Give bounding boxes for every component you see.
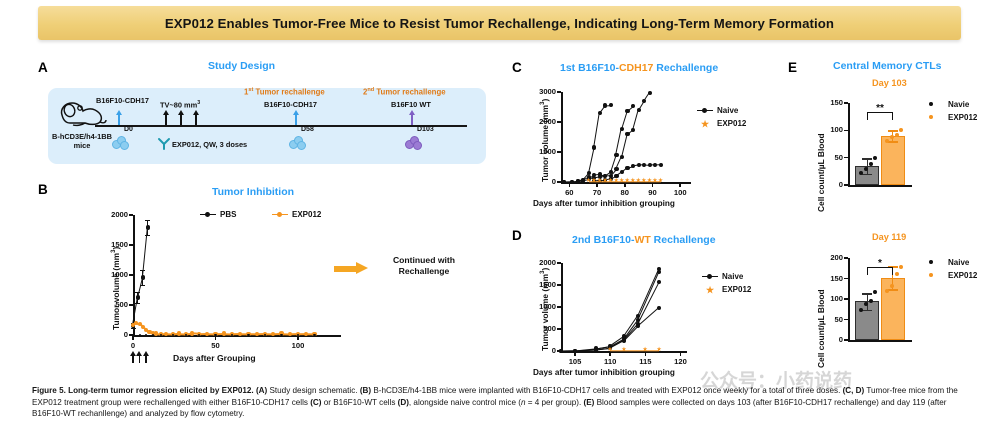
caption-seg-4: B-hCD3E/h4-1BB mice were implanted with … — [371, 386, 842, 395]
caption-seg-9: (D) — [398, 398, 409, 407]
caption-seg-1: Figure 5. Long-term tumor regression eli… — [32, 386, 267, 395]
legend-label-navie-e1: Navie — [948, 100, 969, 109]
caption-seg-5: (C, D) — [843, 386, 865, 395]
caption-seg-3: (B) — [360, 386, 371, 395]
caption-seg-10: , alongside naive control mice ( — [409, 398, 521, 407]
legend-label-exp012-e1: EXP012 — [948, 113, 977, 122]
y-tick — [844, 257, 848, 259]
error-cap — [862, 310, 872, 311]
y-tick-label: 0 — [810, 335, 843, 344]
scatter-point — [873, 290, 877, 294]
figure-root: EXP012 Enables Tumor-Free Mice to Resist… — [0, 0, 999, 429]
y-tick-label: 200 — [810, 253, 843, 262]
legend-item-exp012-e2: EXP012 — [928, 271, 977, 280]
scatter-point — [869, 299, 873, 303]
figure-caption: Figure 5. Long-term tumor regression eli… — [32, 385, 970, 420]
y-axis-title: Cell count/µL Blood — [816, 289, 826, 368]
significance-label: * — [874, 258, 886, 269]
legend-marker-navie-e1-icon — [928, 101, 944, 109]
y-tick — [844, 319, 848, 321]
x-axis — [848, 340, 912, 342]
scatter-point — [895, 272, 899, 276]
error-cap — [888, 289, 898, 290]
y-axis — [848, 258, 850, 340]
y-tick-label: 150 — [810, 274, 843, 283]
scatter-point — [885, 289, 889, 293]
legend-marker-exp012-e2-icon — [928, 272, 944, 280]
y-tick-label: 100 — [810, 294, 843, 303]
y-tick — [844, 339, 848, 341]
panel-e-day119-plot: 050100150200Cell count/µL Blood* — [0, 0, 999, 429]
caption-seg-8: or B16F10-WT cells — [321, 398, 397, 407]
legend-marker-naive-e2-icon — [928, 259, 944, 267]
scatter-point — [899, 265, 903, 269]
panel-e-day103-legend: Navie EXP012 — [928, 100, 977, 126]
caption-seg-2: Study design schematic. — [267, 386, 360, 395]
caption-seg-7: (C) — [310, 398, 321, 407]
scatter-point — [890, 284, 894, 288]
error-cap — [862, 293, 872, 294]
caption-seg-13: (E) — [584, 398, 595, 407]
panel-e-day119-legend: Naive EXP012 — [928, 258, 977, 284]
y-tick — [844, 278, 848, 280]
legend-marker-exp012-e1-icon — [928, 114, 944, 122]
legend-item-navie-e1: Navie — [928, 100, 977, 109]
y-tick — [844, 298, 848, 300]
legend-item-exp012-e1: EXP012 — [928, 113, 977, 122]
y-tick-label: 50 — [810, 315, 843, 324]
caption-seg-12: = 4 per group). — [525, 398, 583, 407]
legend-item-naive-e2: Naive — [928, 258, 977, 267]
legend-label-naive-e2: Naive — [948, 258, 969, 267]
legend-label-exp012-e2: EXP012 — [948, 271, 977, 280]
